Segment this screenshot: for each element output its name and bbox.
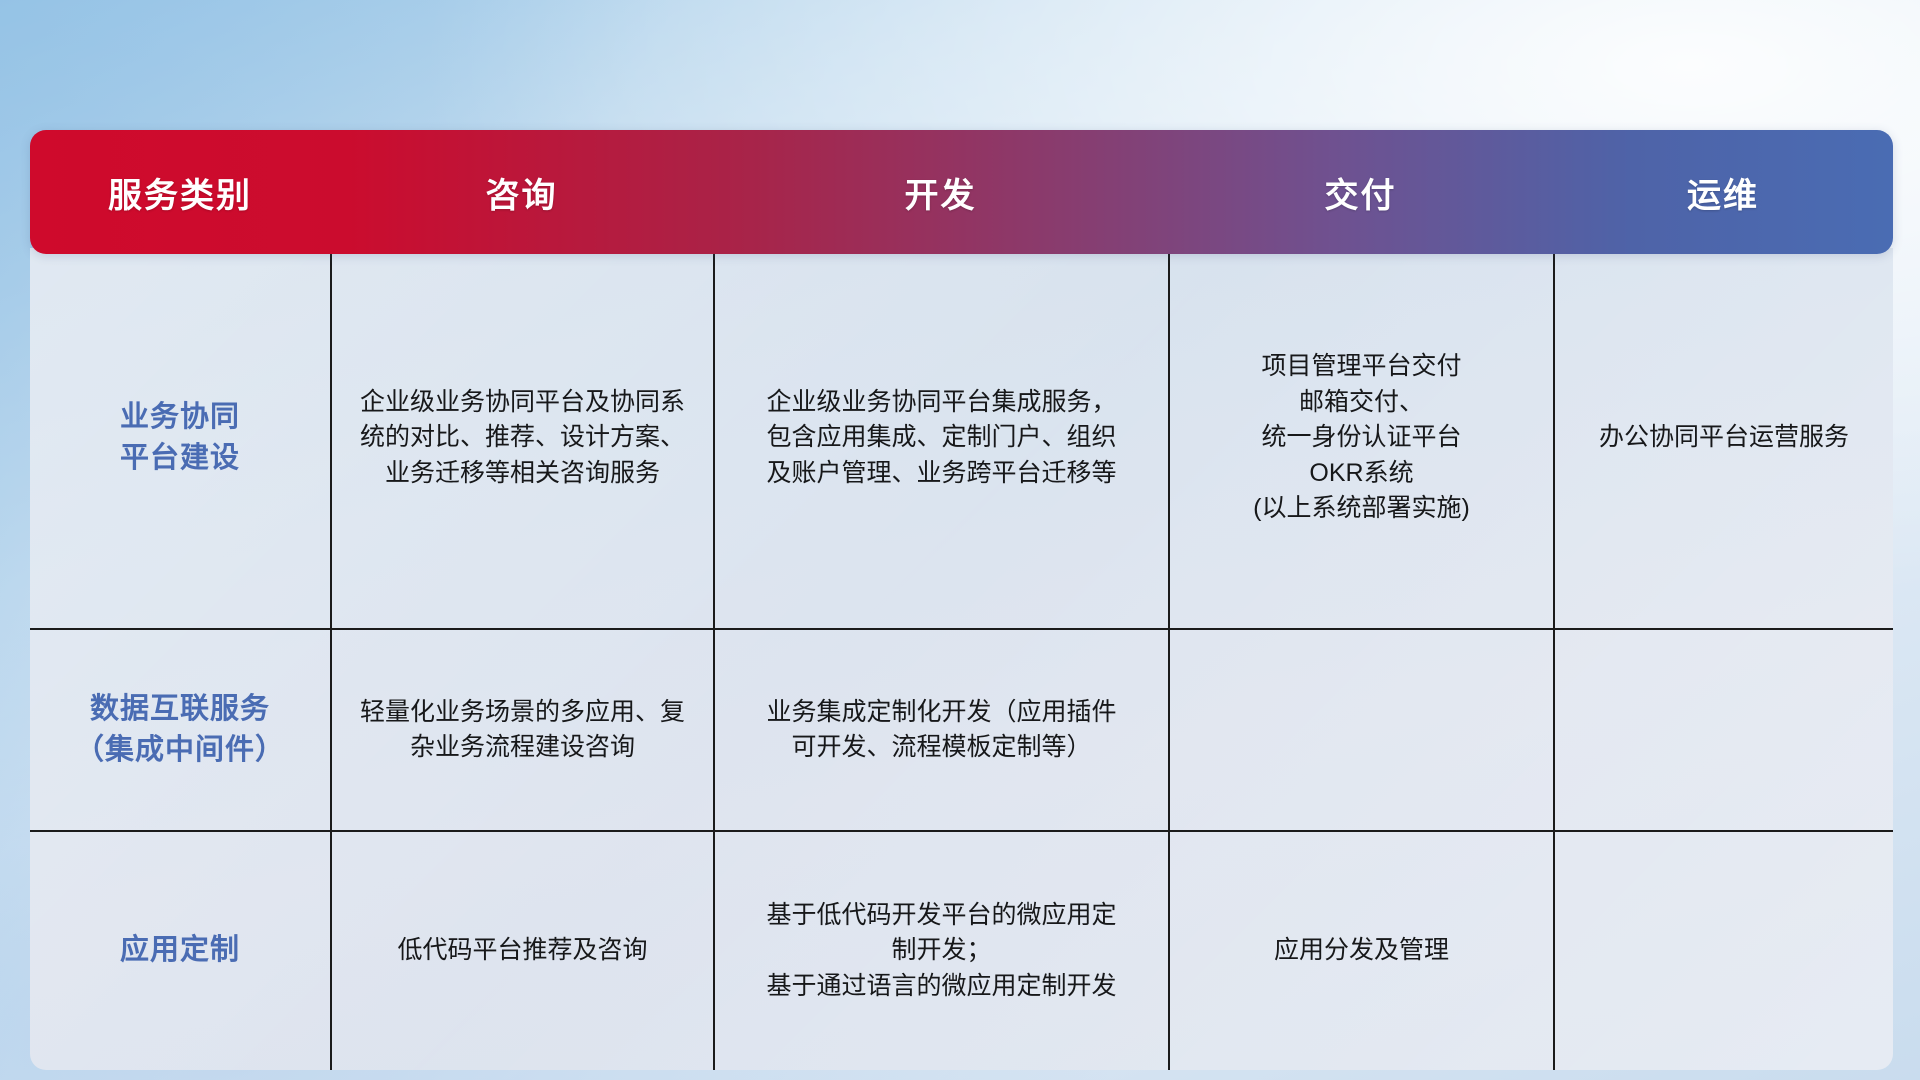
table-row: 业务协同 平台建设 企业级业务协同平台及协同系 统的对比、推荐、设计方案、 业务… bbox=[30, 248, 1893, 628]
header-operations: 运维 bbox=[1553, 168, 1893, 217]
cell-delivery: 项目管理平台交付 邮箱交付、 统一身份认证平台 OKR系统 (以上系统部署实施) bbox=[1168, 248, 1553, 628]
cell-operations: 办公协同平台运营服务 bbox=[1553, 248, 1893, 628]
cell-consulting: 轻量化业务场景的多应用、复 杂业务流程建设咨询 bbox=[330, 630, 713, 830]
row-category-label: 数据互联服务 （集成中间件） bbox=[30, 630, 330, 830]
service-matrix-table: 服务类别 咨询 开发 交付 运维 业务协同 平台建设 企业级业务协同平台及协同系… bbox=[30, 130, 1893, 1070]
header-service-category: 服务类别 bbox=[30, 168, 330, 217]
cell-development: 企业级业务协同平台集成服务， 包含应用集成、定制门户、组织 及账户管理、业务跨平… bbox=[713, 248, 1168, 628]
cell-consulting: 低代码平台推荐及咨询 bbox=[330, 832, 713, 1070]
table-body: 业务协同 平台建设 企业级业务协同平台及协同系 统的对比、推荐、设计方案、 业务… bbox=[30, 248, 1893, 1070]
header-consulting: 咨询 bbox=[330, 168, 713, 217]
header-development: 开发 bbox=[713, 168, 1168, 217]
cell-delivery bbox=[1168, 630, 1553, 830]
table-row: 数据互联服务 （集成中间件） 轻量化业务场景的多应用、复 杂业务流程建设咨询 业… bbox=[30, 628, 1893, 830]
table-header-row: 服务类别 咨询 开发 交付 运维 bbox=[30, 130, 1893, 254]
row-category-label: 业务协同 平台建设 bbox=[30, 248, 330, 628]
cell-development: 业务集成定制化开发（应用插件 可开发、流程模板定制等） bbox=[713, 630, 1168, 830]
cell-operations bbox=[1553, 832, 1893, 1070]
cell-consulting: 企业级业务协同平台及协同系 统的对比、推荐、设计方案、 业务迁移等相关咨询服务 bbox=[330, 248, 713, 628]
cell-delivery: 应用分发及管理 bbox=[1168, 832, 1553, 1070]
cell-development: 基于低代码开发平台的微应用定 制开发； 基于通过语言的微应用定制开发 bbox=[713, 832, 1168, 1070]
header-delivery: 交付 bbox=[1168, 168, 1553, 217]
table-row: 应用定制 低代码平台推荐及咨询 基于低代码开发平台的微应用定 制开发； 基于通过… bbox=[30, 830, 1893, 1070]
row-category-label: 应用定制 bbox=[30, 832, 330, 1070]
cell-operations bbox=[1553, 630, 1893, 830]
